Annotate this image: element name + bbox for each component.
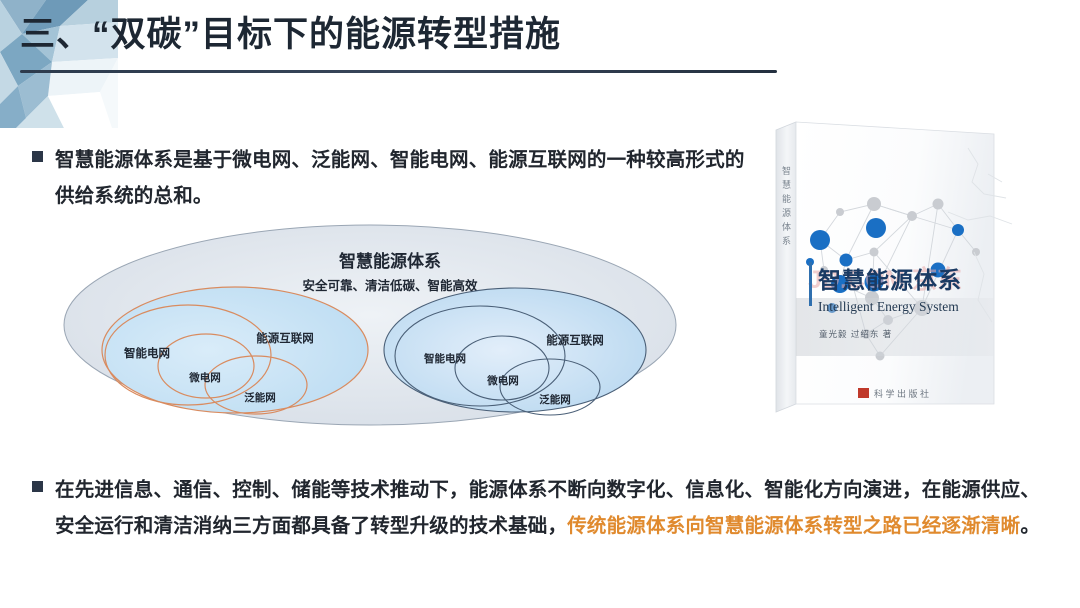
right-label-energy-internet: 能源互联网 bbox=[546, 333, 604, 347]
bullet-paragraph-1: 智慧能源体系是基于微电网、泛能网、智能电网、能源互联网的一种较高形式的供给系统的… bbox=[32, 142, 762, 214]
energy-system-venn-diagram: 智慧能源体系 安全可靠、清洁低碳、智能高效 能源互联网 智能电网 微电网 泛能网… bbox=[60, 222, 680, 427]
bullet-1-line-1: 智慧能源体系是基于微电网、泛能网、智能电网、能源互联网的一种较高形式 bbox=[55, 149, 725, 171]
bullet-2-segment-highlight-2: 渐清晰 bbox=[961, 515, 1020, 537]
book-authors: 童光毅 过绍东 著 bbox=[819, 329, 892, 339]
left-label-smart-grid: 智能电网 bbox=[124, 346, 170, 360]
bullet-square-icon-2 bbox=[32, 481, 43, 492]
book-spine-title: 智慧能源体系 bbox=[781, 165, 791, 250]
title-underline bbox=[20, 70, 777, 73]
bullet-square-icon bbox=[32, 151, 43, 162]
right-label-smart-grid: 智能电网 bbox=[423, 352, 466, 365]
bullet-2-segment-plain-1: 在先进信息、通信、控制、储能等技术推动下，能源体系不断向数字化、信息化、智能化方… bbox=[55, 479, 1001, 501]
page-title: 三、“双碳”目标下的能源转型措施 bbox=[20, 10, 561, 60]
bullet-2-segment-highlight-1: 传统能源体系向智慧能源体系转型之路已经逐 bbox=[567, 515, 961, 537]
bullet-1-text: 智慧能源体系是基于微电网、泛能网、智能电网、能源互联网的一种较高形式的供给系统的… bbox=[55, 142, 762, 214]
diagram-subtitle: 安全可靠、清洁低碳、智能高效 bbox=[302, 278, 478, 293]
left-label-micro-grid: 微电网 bbox=[188, 371, 221, 384]
book-cover-title: 智慧能源体系 bbox=[818, 267, 962, 293]
book-cover-subtitle: Intelligent Energy System bbox=[818, 299, 959, 314]
title-accent-bar bbox=[809, 262, 812, 306]
book-cover-image: 智慧能源体系 bbox=[762, 112, 1058, 424]
bullet-paragraph-2: 在先进信息、通信、控制、储能等技术推动下，能源体系不断向数字化、信息化、智能化方… bbox=[32, 472, 1044, 544]
slide-root: 三、“双碳”目标下的能源转型措施 智慧能源体系是基于微电网、泛能网、智能电网、能… bbox=[0, 0, 1080, 608]
book-front-cover bbox=[796, 122, 994, 404]
right-label-micro-grid: 微电网 bbox=[486, 374, 519, 387]
publisher-name: 科学出版社 bbox=[874, 388, 932, 399]
publisher-logo-mark bbox=[858, 388, 869, 398]
right-label-pan-energy: 泛能网 bbox=[539, 393, 571, 406]
diagram-title: 智慧能源体系 bbox=[339, 251, 441, 271]
left-label-pan-energy: 泛能网 bbox=[244, 391, 276, 404]
left-label-energy-internet: 能源互联网 bbox=[256, 331, 314, 345]
bullet-2-text: 在先进信息、通信、控制、储能等技术推动下，能源体系不断向数字化、信息化、智能化方… bbox=[55, 472, 1044, 544]
bullet-2-segment-plain-3: 。 bbox=[1020, 515, 1040, 537]
title-block: 三、“双碳”目标下的能源转型措施 bbox=[18, 8, 798, 70]
